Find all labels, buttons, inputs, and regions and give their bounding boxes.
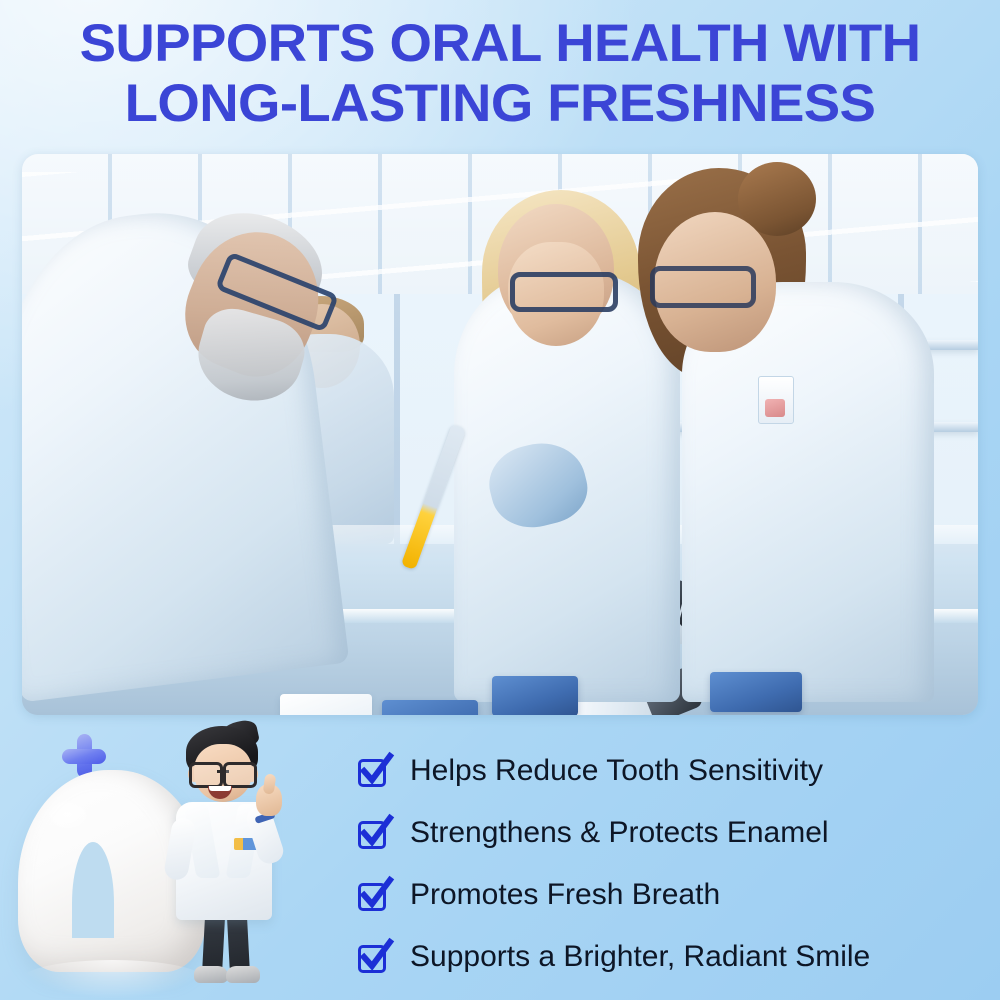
- poster-root: SUPPORTS ORAL HEALTH WITH LONG-LASTING F…: [0, 0, 1000, 1000]
- headline-line-1: SUPPORTS ORAL HEALTH WITH: [0, 14, 1000, 74]
- checkbox-checked-icon: [358, 879, 390, 911]
- checkbox-checked-icon: [358, 817, 390, 849]
- benefit-label: Helps Reduce Tooth Sensitivity: [410, 754, 823, 788]
- list-item: Strengthens & Protects Enamel: [358, 802, 983, 864]
- safety-goggles-icon: [510, 272, 618, 312]
- reagent-box-blue-3: [710, 672, 802, 712]
- reagent-box-blue: [382, 700, 478, 715]
- benefit-label: Strengthens & Protects Enamel: [410, 816, 829, 850]
- list-item: Promotes Fresh Breath: [358, 864, 983, 926]
- id-badge: [758, 376, 794, 424]
- reagent-box-white: [280, 694, 372, 715]
- checkbox-checked-icon: [358, 941, 390, 973]
- lab-photo-scene: [22, 154, 978, 715]
- list-item: Supports a Brighter, Radiant Smile: [358, 926, 983, 988]
- benefit-label: Supports a Brighter, Radiant Smile: [410, 940, 870, 974]
- dentist-shoe-right: [226, 966, 260, 983]
- dentist-shoe-left: [194, 966, 228, 983]
- lab-photo: [22, 154, 978, 715]
- benefits-section: Helps Reduce Tooth Sensitivity Strengthe…: [0, 716, 1000, 1000]
- checkbox-checked-icon: [358, 755, 390, 787]
- tooth-highlight: [44, 798, 92, 832]
- safety-goggles-icon: [650, 266, 756, 308]
- eyeglasses-icon: [189, 762, 257, 782]
- page-title: SUPPORTS ORAL HEALTH WITH LONG-LASTING F…: [0, 14, 1000, 134]
- headline-line-2: LONG-LASTING FRESHNESS: [0, 74, 1000, 134]
- cartoon-dentist: [156, 722, 286, 990]
- reagent-box-blue-2: [492, 676, 578, 715]
- benefit-list: Helps Reduce Tooth Sensitivity Strengthe…: [358, 740, 983, 988]
- benefit-label: Promotes Fresh Breath: [410, 878, 720, 912]
- list-item: Helps Reduce Tooth Sensitivity: [358, 740, 983, 802]
